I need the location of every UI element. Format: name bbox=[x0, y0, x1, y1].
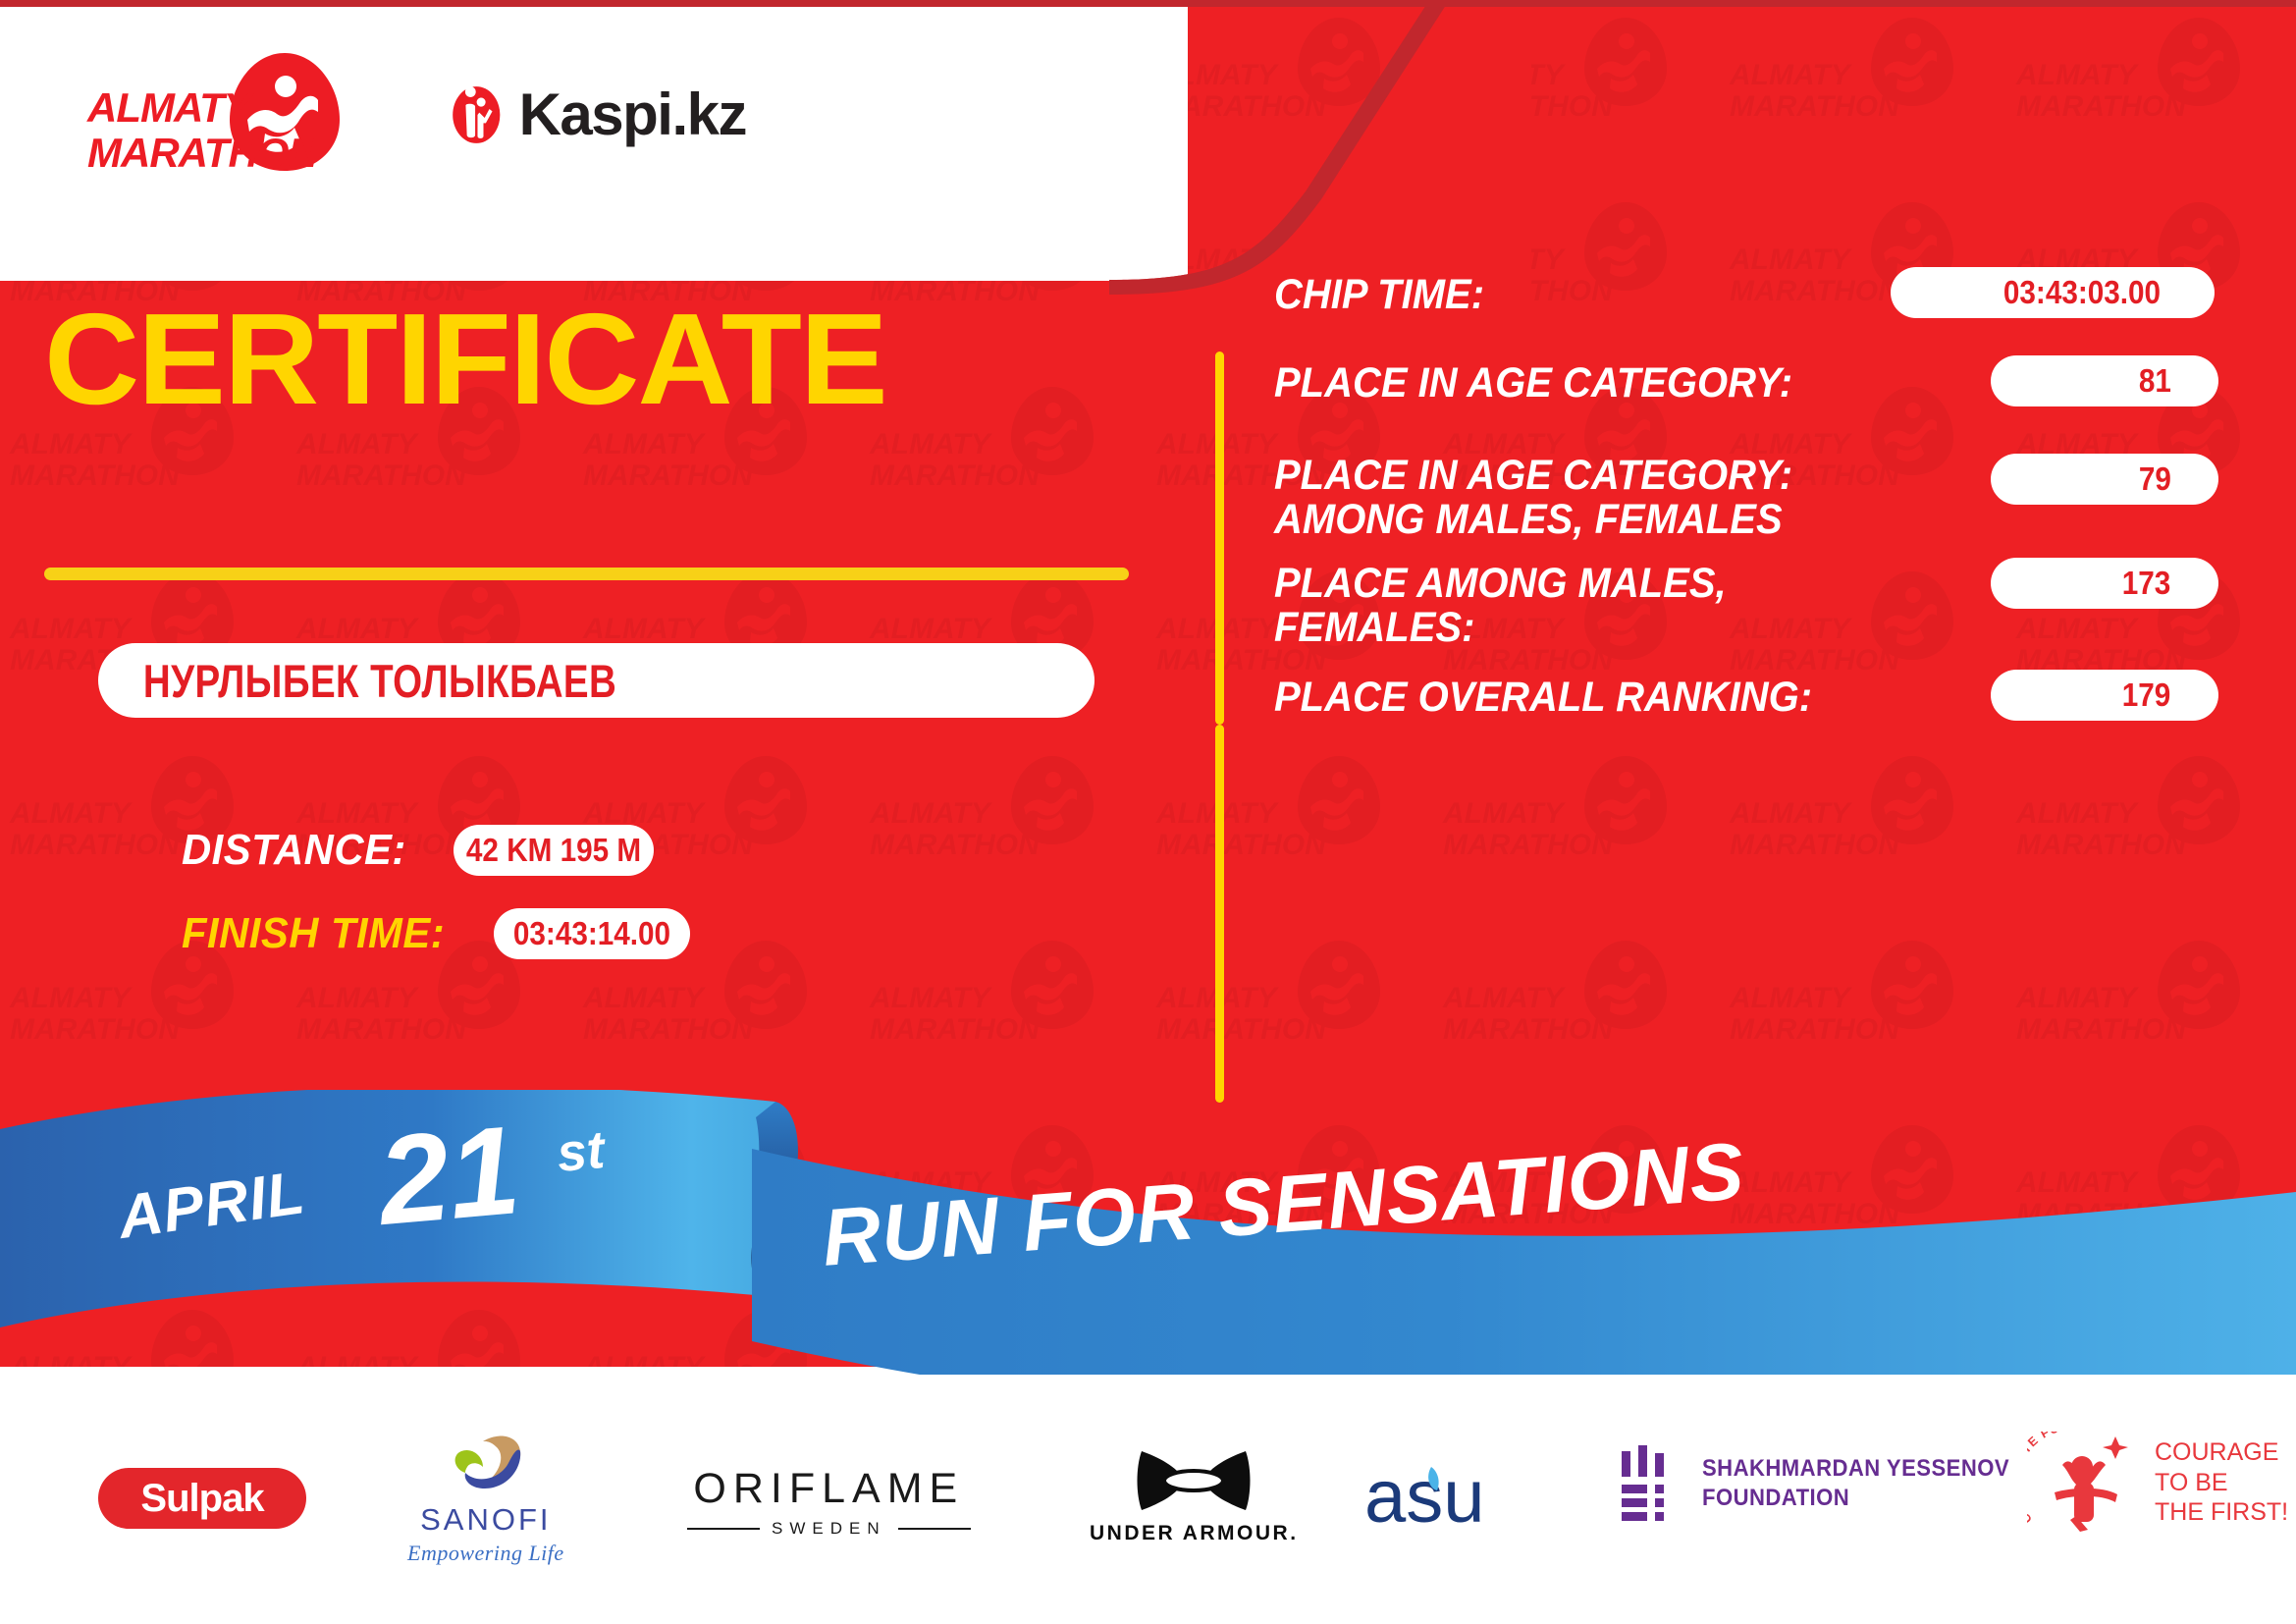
place-overall-ranking-label: PLACE OVERALL RANKING: bbox=[1274, 676, 1812, 720]
finish-time-value: 03:43:14.00 bbox=[513, 915, 670, 952]
distance-pill: 42 KM 195 M bbox=[454, 825, 654, 876]
sponsor-under-armour: UNDER ARMOUR. bbox=[1090, 1445, 1299, 1545]
oriflame-rule-left bbox=[687, 1528, 760, 1530]
under-armour-mark-icon bbox=[1130, 1445, 1257, 1516]
asu-label: asu bbox=[1364, 1459, 1485, 1536]
runner-name-value: НУРЛЫБЕК ТОЛЫКБАЕВ bbox=[98, 654, 616, 708]
almaty-logo-line2: MARATHON bbox=[87, 130, 320, 176]
sponsor-courage-fund: CORPORATE FUND COURAGE TO BE THE FIRST! bbox=[2027, 1432, 2288, 1534]
almaty-logo-line1: ALMATY bbox=[86, 84, 255, 131]
place-age-category-among-value: 79 bbox=[2139, 460, 2171, 498]
certificate-left-column: CERTIFICATE НУРЛЫБЕК ТОЛЫКБАЕВ DISTANCE:… bbox=[0, 295, 1178, 1129]
place-age-category-label: PLACE IN AGE CATEGORY: bbox=[1274, 361, 1792, 406]
chip-time-value: 03:43:03.00 bbox=[2003, 274, 2161, 311]
sulpak-logo: Sulpak bbox=[98, 1468, 306, 1529]
courage-fund-mark-icon: CORPORATE FUND bbox=[2027, 1432, 2143, 1534]
place-age-category-value: 81 bbox=[2139, 362, 2171, 400]
finish-time-row: FINISH TIME: 03:43:14.00 bbox=[182, 908, 690, 959]
chip-time-pill: 03:43:03.00 bbox=[1891, 267, 2215, 318]
title-underline bbox=[44, 568, 1129, 580]
kaspi-mark-icon bbox=[452, 66, 502, 164]
finish-time-pill: 03:43:14.00 bbox=[494, 908, 690, 959]
sanofi-mark-icon bbox=[444, 1434, 528, 1498]
under-armour-label: UNDER ARMOUR. bbox=[1090, 1522, 1299, 1545]
vertical-divider-bottom bbox=[1215, 725, 1224, 1103]
yessenov-sub-label: FOUNDATION bbox=[1702, 1484, 2009, 1513]
place-among-males-females-pill: 173 bbox=[1991, 558, 2218, 609]
oriflame-sub-label: SWEDEN bbox=[772, 1519, 886, 1539]
sponsor-asu: asu bbox=[1364, 1459, 1522, 1536]
distance-label: DISTANCE: bbox=[182, 826, 406, 875]
asu-mark-icon: asu bbox=[1364, 1459, 1522, 1536]
top-border-rule bbox=[0, 0, 2296, 7]
header-curve-shape bbox=[1109, 0, 1531, 314]
place-age-category-pill: 81 bbox=[1991, 355, 2218, 406]
sponsor-bar: Sulpak SANOFI Empowering Life ORIFLAME S… bbox=[0, 1375, 2296, 1624]
kaspi-wordmark: Kaspi.kz bbox=[519, 85, 746, 144]
runner-name-field: НУРЛЫБЕК ТОЛЫКБАЕВ bbox=[98, 643, 1095, 718]
courage-line-2: TO BE bbox=[2155, 1468, 2288, 1498]
page-title: CERTIFICATE bbox=[44, 295, 886, 424]
sanofi-tagline: Empowering Life bbox=[407, 1541, 564, 1566]
courage-line-1: COURAGE bbox=[2155, 1437, 2288, 1468]
sponsor-sulpak: Sulpak bbox=[98, 1468, 306, 1529]
ribbon-day: 21 bbox=[374, 1108, 524, 1245]
oriflame-label: ORIFLAME bbox=[693, 1465, 964, 1513]
finish-time-label: FINISH TIME: bbox=[182, 909, 445, 958]
place-overall-ranking-value: 179 bbox=[2122, 677, 2171, 714]
kaspi-logo: Kaspi.kz bbox=[452, 61, 746, 169]
place-among-males-females-value: 173 bbox=[2122, 565, 2171, 602]
sponsor-yessenov-foundation: SHAKHMARDAN YESSENOV FOUNDATION bbox=[1620, 1445, 2036, 1522]
sanofi-label: SANOFI bbox=[420, 1502, 551, 1538]
almaty-marathon-logo: ALMATY MARATHON bbox=[82, 51, 377, 177]
distance-row: DISTANCE: 42 KM 195 M bbox=[182, 825, 654, 876]
chip-time-label: CHIP TIME: bbox=[1274, 273, 1484, 317]
vertical-divider-top bbox=[1215, 352, 1224, 725]
sulpak-label: Sulpak bbox=[140, 1477, 263, 1521]
yessenov-label: SHAKHMARDAN YESSENOV bbox=[1702, 1454, 2009, 1484]
place-age-category-among-pill: 79 bbox=[1991, 454, 2218, 505]
yessenov-mark-icon bbox=[1620, 1445, 1681, 1522]
sponsor-sanofi: SANOFI Empowering Life bbox=[407, 1434, 564, 1566]
certificate-page: ALMATY MARATHON Kaspi.kz CERTIFICATE НУР… bbox=[0, 0, 2296, 1624]
sponsor-oriflame: ORIFLAME SWEDEN bbox=[687, 1465, 971, 1539]
place-among-males-females-label: PLACE AMONG MALES, FEMALES: bbox=[1274, 562, 1727, 650]
oriflame-rule-right bbox=[898, 1528, 971, 1530]
ribbon-day-suffix: st bbox=[555, 1123, 607, 1180]
place-overall-ranking-pill: 179 bbox=[1991, 670, 2218, 721]
distance-value: 42 KM 195 M bbox=[466, 832, 641, 869]
place-age-category-among-label: PLACE IN AGE CATEGORY: AMONG MALES, FEMA… bbox=[1274, 454, 1792, 542]
results-column: CHIP TIME: 03:43:03.00 PLACE IN AGE CATE… bbox=[1256, 295, 2228, 1129]
courage-line-3: THE FIRST! bbox=[2155, 1497, 2288, 1528]
